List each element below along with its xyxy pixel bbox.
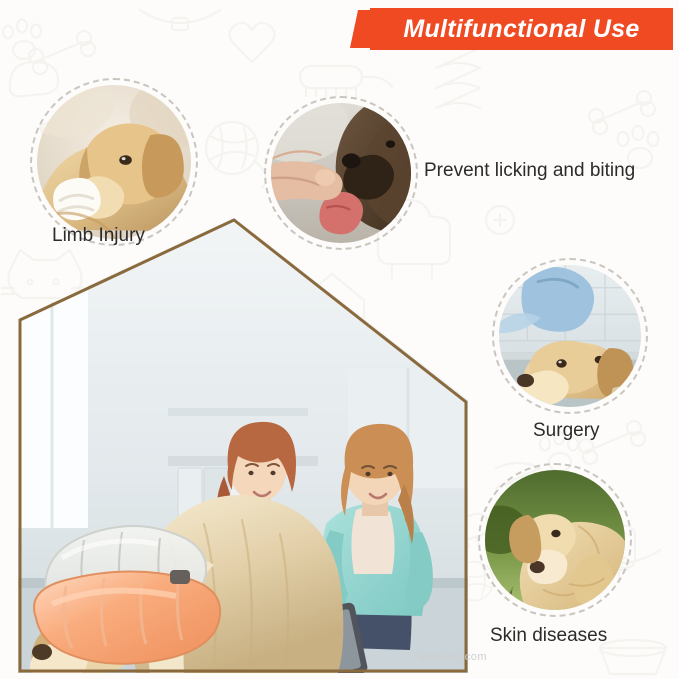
caption-prevent-licking: Prevent licking and biting xyxy=(424,160,635,182)
caption-limb-injury: Limb Injury xyxy=(52,225,145,247)
bubble-limb-injury xyxy=(30,78,198,246)
caption-surgery: Surgery xyxy=(533,420,600,442)
skin-diseases-photo xyxy=(485,470,625,610)
caption-skin-diseases: Skin diseases xyxy=(490,625,607,647)
watermark: amazon.com xyxy=(419,651,487,663)
bubble-skin-diseases xyxy=(478,463,632,617)
header-banner: Multifunctional Use xyxy=(370,8,673,50)
bubble-prevent-licking xyxy=(264,96,418,250)
product-infographic: Multifunctional Use xyxy=(0,0,679,679)
page-title: Multifunctional Use xyxy=(403,15,639,44)
surgery-photo xyxy=(499,265,641,407)
prevent-licking-photo xyxy=(271,103,411,243)
limb-injury-photo xyxy=(37,85,191,239)
main-product-photo xyxy=(18,218,468,673)
bubble-surgery xyxy=(492,258,648,414)
